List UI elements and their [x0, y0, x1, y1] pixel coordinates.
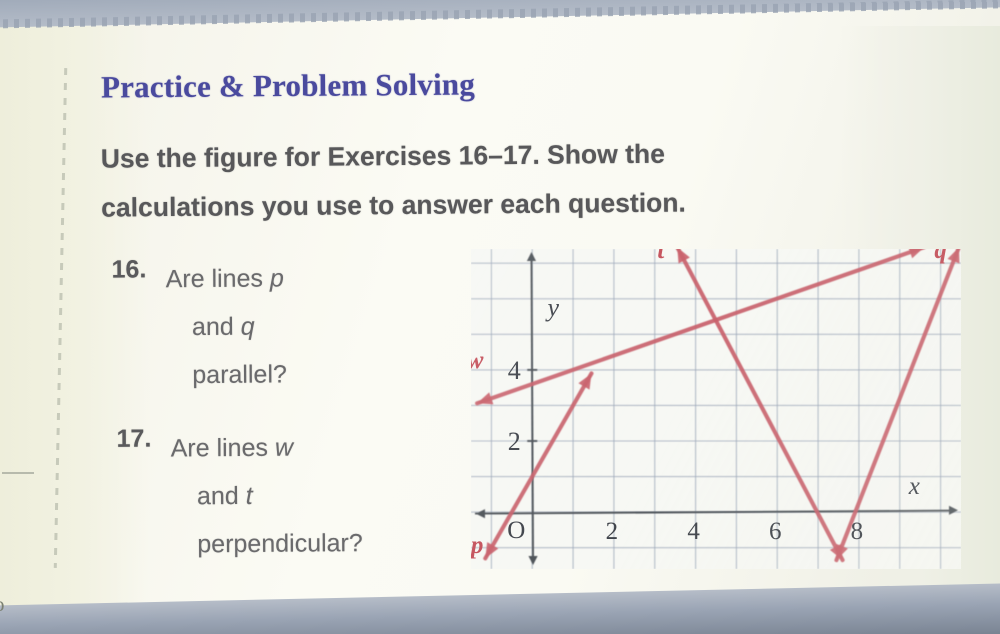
graph-svg: 246824Oyxpwtq: [471, 249, 961, 569]
x-axis-label: x: [908, 473, 920, 500]
page-title: Practice & Problem Solving: [101, 67, 475, 106]
exercise-16-line-3: parallel?: [166, 350, 287, 399]
x-tick-label: 6: [769, 518, 782, 545]
exercise-number-17: 17.: [117, 424, 171, 453]
y-tick-label: 4: [508, 356, 521, 385]
exercise-item-17: 17. Are lines w and t perpendicular?: [117, 423, 363, 569]
x-tick-label: 8: [851, 518, 864, 545]
line-label-w: w: [471, 347, 484, 374]
x-tick-label: 2: [606, 518, 619, 545]
exercise-text-17: Are lines w and t perpendicular?: [170, 423, 362, 568]
line-label-t: t: [657, 249, 665, 264]
corner-glyph: o: [0, 592, 5, 617]
variable-t: t: [246, 482, 253, 510]
y-tick-label: 2: [508, 427, 521, 456]
line-label-p: p: [471, 532, 483, 559]
exercise-number-16: 16.: [111, 255, 165, 284]
exercise-item-16: 16. Are lines p and q parallel?: [111, 254, 287, 399]
coordinate-plane-figure: 246824Oyxpwtq: [471, 249, 961, 569]
exercise-17-line-2: and t: [171, 471, 363, 520]
variable-w: w: [275, 434, 293, 462]
variable-p: p: [270, 264, 284, 292]
exercise-16-line-1: Are lines p: [165, 254, 286, 303]
screenshot-root: o Practice & Problem Solving Use the fig…: [0, 0, 1000, 634]
exercise-16-line-2: and q: [166, 302, 287, 351]
margin-tick-mark: [2, 472, 34, 474]
figure-background: [471, 249, 961, 569]
instruction-line-2: calculations you use to answer each ques…: [101, 176, 931, 232]
exercise-17-line-1: Are lines w: [170, 423, 362, 472]
instruction-line-1: Use the figure for Exercises 16–17. Show…: [101, 127, 931, 183]
y-axis-label: y: [544, 293, 559, 322]
exercise-text-16: Are lines p and q parallel?: [165, 254, 287, 399]
exercise-17-line-3: perpendicular?: [171, 519, 363, 568]
variable-q: q: [241, 313, 255, 341]
origin-label: O: [507, 517, 525, 544]
x-tick-label: 4: [687, 518, 700, 545]
instructions: Use the figure for Exercises 16–17. Show…: [101, 127, 932, 232]
line-label-q: q: [934, 249, 947, 264]
